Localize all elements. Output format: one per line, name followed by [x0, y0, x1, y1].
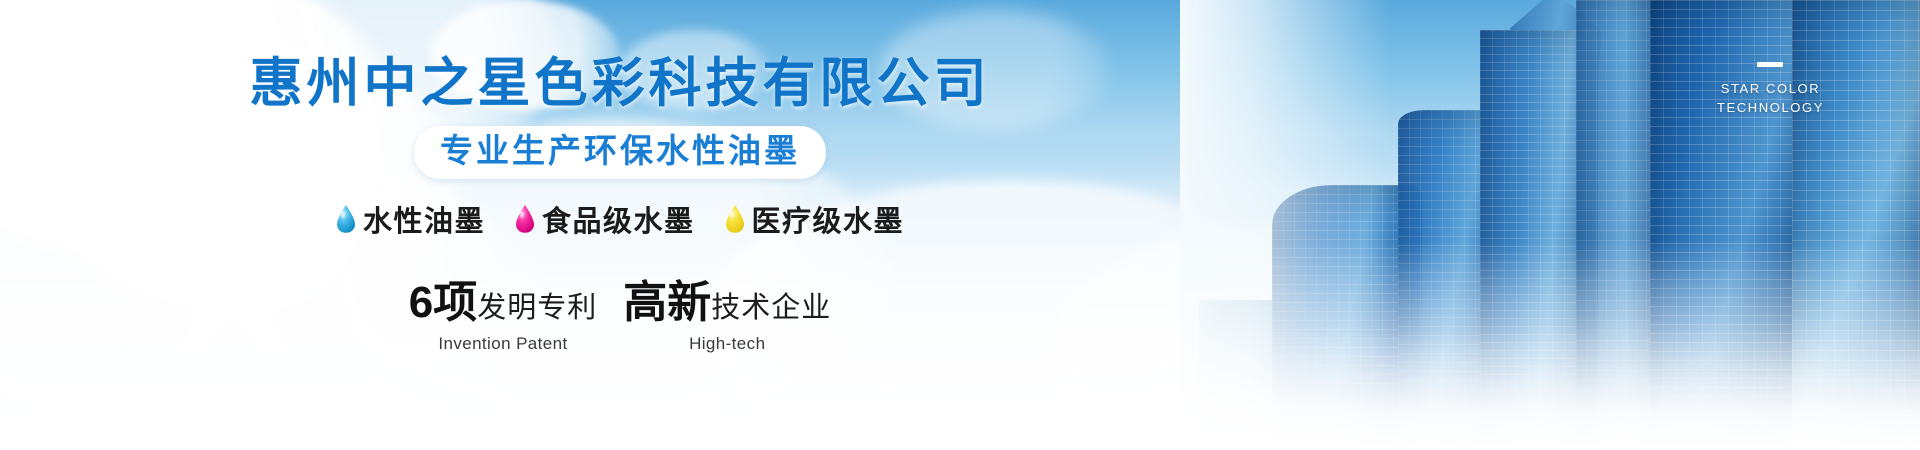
subtitle-text: 专业生产环保水性油墨: [440, 132, 800, 169]
badge-headline: 高新: [623, 266, 711, 330]
list-item: 食品级水墨: [515, 198, 695, 240]
page-title: 惠州中之星色彩科技有限公司: [250, 56, 991, 112]
badge-english: Invention Patent: [409, 334, 598, 354]
status-badge: 高新 技术企业 High-tech: [623, 266, 831, 354]
water-drop-icon: [336, 205, 356, 233]
list-item: 医疗级水墨: [725, 198, 905, 240]
badge-row: 高新 技术企业: [623, 266, 831, 330]
feature-label: 医疗级水墨: [752, 198, 905, 240]
brand-dash-icon: [1757, 62, 1783, 67]
badge-headline: 6项: [409, 266, 477, 330]
water-drop-icon: [725, 205, 745, 233]
list-item: 水性油墨: [336, 198, 485, 240]
badge-english: High-tech: [623, 334, 831, 354]
water-drop-icon: [515, 205, 535, 233]
banner-content: 惠州中之星色彩科技有限公司 专业生产环保水性油墨: [0, 0, 1240, 450]
badge-row: 6项 发明专利: [409, 266, 598, 330]
brand-mark: STAR COLOR TECHNOLOGY: [1717, 62, 1824, 117]
brand-mark-line1: STAR COLOR: [1717, 79, 1824, 98]
brand-mark-line2: TECHNOLOGY: [1717, 98, 1824, 117]
badge-list: 6项 发明专利 Invention Patent 高新 技术企业 High-te…: [409, 266, 832, 354]
badge-subhead: 发明专利: [477, 284, 597, 326]
status-badge: 6项 发明专利 Invention Patent: [409, 266, 598, 354]
subtitle-pill: 专业生产环保水性油墨: [414, 126, 826, 179]
company-hero-banner: STAR COLOR TECHNOLOGY ★ Star Color 惠州中之星…: [0, 0, 1920, 450]
badge-subhead: 技术企业: [711, 284, 831, 326]
feature-label: 食品级水墨: [542, 198, 695, 240]
feature-list: 水性油墨: [336, 198, 904, 240]
feature-label: 水性油墨: [363, 198, 485, 240]
